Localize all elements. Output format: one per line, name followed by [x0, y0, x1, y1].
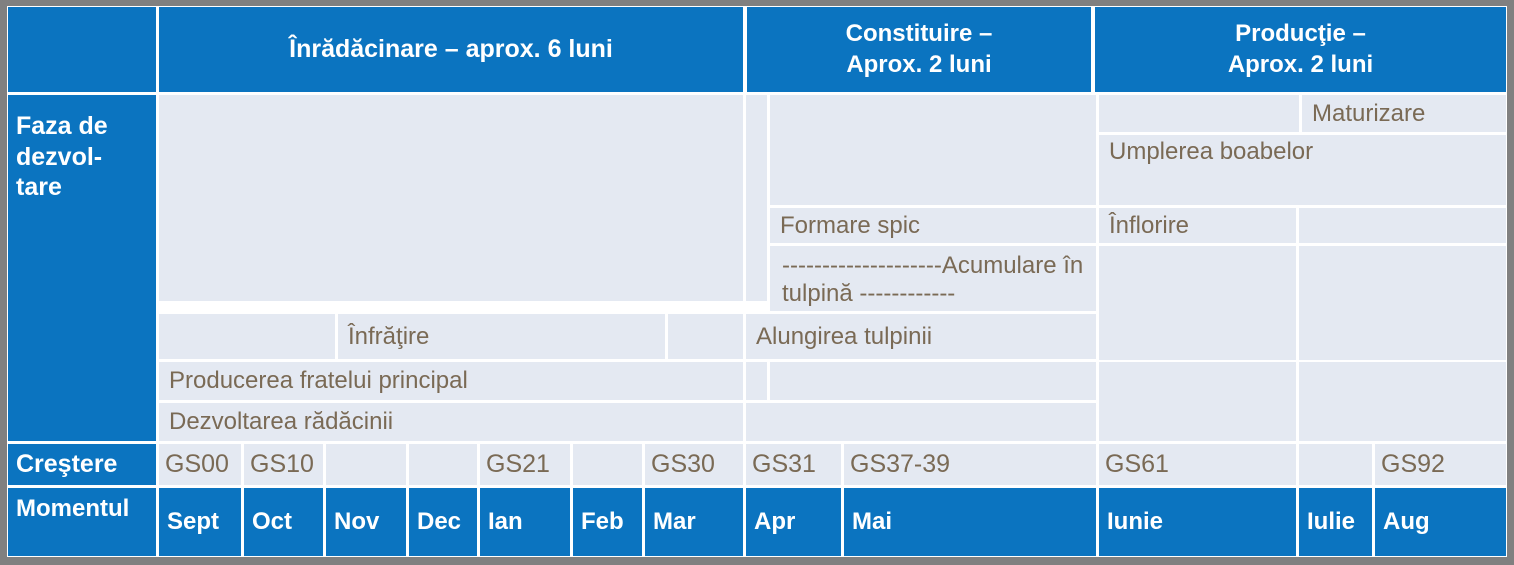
dev-filler-c1 — [1299, 208, 1506, 243]
dev-filler-f3 — [1099, 362, 1296, 441]
dev-phase-alungirea-tulpinii: Alungirea tulpinii — [746, 314, 1096, 359]
month-feb: Feb — [573, 488, 642, 556]
dev-filler-e1 — [159, 314, 335, 359]
dev-phase-producerea-fratelui: Producerea fratelui principal — [159, 362, 743, 400]
growth-stage-blank-3 — [573, 444, 642, 485]
stage-header-production-line2: Aprox. 2 luni — [1228, 50, 1373, 81]
stage-header-production-line1: Producţie – — [1235, 19, 1366, 50]
month-dec: Dec — [409, 488, 477, 556]
dev-phase-dezvoltarea-radacinii: Dezvoltarea rădăcinii — [159, 403, 743, 441]
dev-filler-f4 — [1299, 362, 1506, 441]
dev-phase-acumulare-tulpina: --------------------Acumulare în tulpină… — [770, 246, 1096, 311]
dev-filler-d1 — [1099, 246, 1296, 360]
dev-phase-maturizare: Maturizare — [1302, 95, 1506, 132]
row-label-development-line2: dezvol- — [16, 142, 156, 173]
growth-stage-gs92: GS92 — [1375, 444, 1506, 485]
growth-stage-gs37-39: GS37-39 — [844, 444, 1096, 485]
dev-filler-g1 — [746, 403, 1096, 441]
row-label-timing: Momentul — [8, 488, 156, 556]
month-aug: Aug — [1375, 488, 1506, 556]
dev-phase-infratire: Înfrăţire — [338, 314, 665, 359]
dev-filler-e2 — [668, 314, 743, 359]
row-label-growth: Creştere — [8, 444, 156, 485]
growth-stage-gs10: GS10 — [244, 444, 323, 485]
stage-header-constitution-line1: Constituire – — [846, 19, 993, 50]
dev-filler-a2 — [746, 95, 767, 301]
dev-filler-d2 — [1299, 246, 1506, 360]
stage-header-production: Producţie – Aprox. 2 luni — [1095, 7, 1506, 92]
month-iunie: Iunie — [1099, 488, 1296, 556]
growth-stage-gs00: GS00 — [159, 444, 241, 485]
dev-filler-f2 — [770, 362, 1096, 400]
row-label-development-line1: Faza de — [16, 111, 156, 142]
dev-phase-inflorire: Înflorire — [1099, 208, 1296, 243]
row-label-development-line3: tare — [16, 172, 156, 203]
stage-header-constitution: Constituire – Aprox. 2 luni — [747, 7, 1091, 92]
growth-stage-blank-2 — [409, 444, 477, 485]
month-apr: Apr — [746, 488, 841, 556]
month-mai: Mai — [844, 488, 1096, 556]
growth-stage-gs30: GS30 — [645, 444, 743, 485]
month-oct: Oct — [244, 488, 323, 556]
growth-stage-blank-1 — [326, 444, 406, 485]
phenology-table: Înrădăcinare – aprox. 6 luni Constituire… — [7, 6, 1507, 557]
month-iulie: Iulie — [1299, 488, 1372, 556]
dev-filler-a3 — [770, 95, 1096, 205]
stage-header-constitution-line2: Aprox. 2 luni — [846, 50, 991, 81]
dev-phase-formare-spic: Formare spic — [770, 208, 1096, 243]
month-nov: Nov — [326, 488, 406, 556]
month-sept: Sept — [159, 488, 241, 556]
dev-phase-umplerea-boabelor: Umplerea boabelor — [1099, 135, 1506, 205]
row-label-development-phase: Faza de dezvol- tare — [8, 95, 156, 441]
month-ian: Ian — [480, 488, 570, 556]
growth-stage-gs61: GS61 — [1099, 444, 1296, 485]
growth-stage-gs21: GS21 — [480, 444, 570, 485]
growth-stage-blank-4 — [1299, 444, 1372, 485]
dev-filler-f1 — [746, 362, 767, 400]
stage-header-rooting: Înrădăcinare – aprox. 6 luni — [159, 7, 743, 92]
growth-stage-gs31: GS31 — [746, 444, 841, 485]
dev-filler-a1 — [159, 95, 743, 301]
dev-filler-a4 — [1099, 95, 1299, 132]
table-corner-blank — [8, 7, 156, 92]
month-mar: Mar — [645, 488, 743, 556]
